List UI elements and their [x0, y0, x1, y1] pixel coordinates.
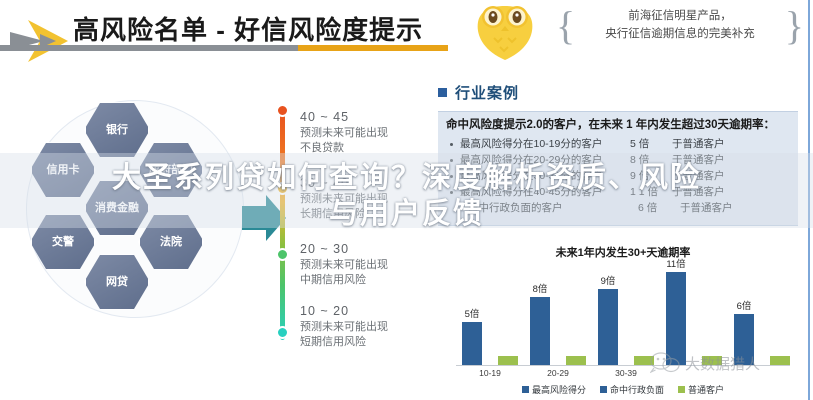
timeline-desc-line-2: 短期信用风险 — [300, 335, 430, 350]
open-brace-icon: { — [556, 6, 575, 46]
chart-bar-value: 9倍 — [601, 273, 616, 287]
timeline-desc-line-1: 预测未来可能出现 — [300, 126, 430, 141]
legend-swatch-icon — [522, 386, 529, 393]
owl-mascot-icon — [470, 2, 540, 64]
case-bullet-row: 最高风险得分在40-45分的客户 1 1 倍 于普通客户 — [446, 185, 790, 201]
legend-item-normal-customer: 普通客户 — [678, 383, 724, 396]
legend-swatch-icon — [678, 386, 685, 393]
chart-bar-value: 11倍 — [666, 256, 685, 270]
hexagon-cluster: 银行 信用卡 政府部门 消费金融 交警 法院 网贷 — [18, 95, 248, 345]
timeline-range: 20 ~ 30 — [300, 242, 430, 256]
bullet-multiplier: 5 倍 — [630, 137, 672, 153]
chart-bar-reference — [566, 356, 586, 365]
section-header: 行业案例 — [438, 82, 798, 103]
case-bullet-row: 命中行政负面的客户 6 倍 于普通客户 — [446, 201, 790, 217]
chart-bar-main: 8倍 — [530, 297, 550, 365]
bullet-comparison: 于普通客户 — [672, 185, 725, 201]
bullet-dot-icon — [450, 143, 453, 146]
chart-bar-value: 8倍 — [533, 281, 548, 295]
bullet-label: 命中行政负面的客户 — [468, 201, 638, 217]
bullet-label: 最高风险得分在10-19分的客户 — [460, 137, 630, 153]
timeline-range: 10 ~ 20 — [300, 304, 430, 318]
tagline-block: { 前海征信明星产品， 央行征信逾期信息的完美补充 } — [556, 2, 804, 50]
legend-label: 最高风险得分 — [532, 383, 586, 396]
tagline-line-1: 前海征信明星产品， — [579, 8, 781, 26]
timeline-item-30-40: 30 ~ 40 预测未来可能出现 长期信用风险 — [300, 176, 430, 222]
square-bullet-icon — [438, 88, 447, 97]
right-edge-rule — [808, 0, 810, 400]
bullet-dot-icon — [450, 191, 453, 194]
chart-group-3: 11倍 — [660, 262, 728, 365]
timeline-desc-line-1: 预测未来可能出现 — [300, 258, 430, 273]
case-bullet-row: 最高风险得分在20-29分的客户 8 倍 于普通客户 — [446, 153, 790, 169]
chart-bar-value: 5倍 — [465, 306, 480, 320]
tagline-line-2: 央行征信逾期信息的完美补充 — [579, 26, 781, 44]
chart-bar-value: 6倍 — [737, 298, 752, 312]
bullet-label: 最高风险得分在30-39分的客户 — [460, 169, 630, 185]
timeline-desc-line-2: 中期信用风险 — [300, 273, 430, 288]
page-title: 高风险名单 - 好信风险度提示 — [73, 10, 423, 47]
chart-bar-reference — [498, 356, 518, 365]
chart-group-2: 9倍 — [592, 262, 660, 365]
wechat-account-badge: 大数据猎人 — [650, 352, 760, 374]
legend-swatch-icon — [600, 386, 607, 393]
slide-root: 高风险名单 - 好信风险度提示 { 前海征信明星产品， 央行征信逾期信息的完美补… — [0, 0, 813, 400]
bullet-multiplier: 1 1 倍 — [630, 185, 672, 201]
timeline-range: 40 ~ 45 — [300, 110, 430, 124]
timeline-desc-line-1: 预测未来可能出现 — [300, 320, 430, 335]
timeline-rail — [280, 110, 285, 340]
bullet-comparison: 于普通客户 — [672, 137, 725, 153]
bullet-comparison: 于普通客户 — [680, 201, 733, 217]
timeline-dot-40-45 — [276, 104, 289, 117]
section-title: 行业案例 — [455, 82, 519, 103]
legend-item-admin-negative: 命中行政负面 — [600, 383, 664, 396]
chart-group-1: 8倍 — [524, 262, 592, 365]
chart-plot-area: 5倍 8倍 9倍 11倍 — [456, 262, 790, 366]
wechat-icon — [650, 352, 680, 374]
bullet-dot-icon — [450, 175, 453, 178]
bullet-comparison: 于普通客户 — [672, 153, 725, 169]
bullet-label: 最高风险得分在40-45分的客户 — [460, 185, 630, 201]
bullet-comparison: 于普通客户 — [672, 169, 725, 185]
bullet-multiplier: 6 倍 — [638, 201, 680, 217]
tagline-text: 前海征信明星产品， 央行征信逾期信息的完美补充 — [575, 8, 785, 44]
timeline-dot-10-20 — [276, 326, 289, 339]
bullet-multiplier: 9 倍 — [630, 169, 672, 185]
chart-legend: 最高风险得分 命中行政负面 普通客户 — [448, 383, 798, 396]
case-bullet-row: 最高风险得分在30-39分的客户 9 倍 于普通客户 — [446, 169, 790, 185]
case-lead-text: 命中风险度提示2.0的客户，在未来 1 年内发生超过30天逾期率： — [446, 118, 790, 133]
wechat-account-name: 大数据猎人 — [685, 353, 760, 374]
bullet-dot-icon — [450, 159, 453, 162]
timeline-desc-line-1: 预测未来可能出现 — [300, 192, 430, 207]
chart-bar-main: 9倍 — [598, 289, 618, 365]
case-info-box: 命中风险度提示2.0的客户，在未来 1 年内发生超过30天逾期率： 最高风险得分… — [438, 111, 798, 226]
chart-x-tick: 10-19 — [456, 368, 524, 378]
risk-score-timeline: 40 ~ 45 预测未来可能出现 不良贷款 30 ~ 40 预测未来可能出现 长… — [276, 104, 436, 354]
chart-x-tick: 20-29 — [524, 368, 592, 378]
case-bullet-row: 最高风险得分在10-19分的客户 5 倍 于普通客户 — [446, 137, 790, 153]
chart-group-4: 6倍 — [728, 262, 796, 365]
timeline-range: 30 ~ 40 — [300, 176, 430, 190]
timeline-desc-line-2: 长期信用风险 — [300, 207, 430, 222]
chart-bar-main: 5倍 — [462, 322, 482, 365]
timeline-item-40-45: 40 ~ 45 预测未来可能出现 不良贷款 — [300, 110, 430, 156]
bullet-multiplier: 8 倍 — [630, 153, 672, 169]
timeline-dot-20-30 — [276, 248, 289, 261]
chart-bar-reference — [770, 356, 790, 365]
chart-group-0: 5倍 — [456, 262, 524, 365]
legend-item-max-risk-score: 最高风险得分 — [522, 383, 586, 396]
chart-title: 未来1年内发生30+天逾期率 — [448, 244, 798, 260]
timeline-item-10-20: 10 ~ 20 预测未来可能出现 短期信用风险 — [300, 304, 430, 350]
bullet-label: 最高风险得分在20-29分的客户 — [460, 153, 630, 169]
timeline-desc-line-2: 不良贷款 — [300, 141, 430, 156]
close-brace-icon: } — [785, 6, 804, 46]
timeline-item-20-30: 20 ~ 30 预测未来可能出现 中期信用风险 — [300, 242, 430, 288]
legend-label: 命中行政负面 — [610, 383, 664, 396]
legend-label: 普通客户 — [688, 383, 724, 396]
timeline-dot-30-40 — [276, 182, 289, 195]
